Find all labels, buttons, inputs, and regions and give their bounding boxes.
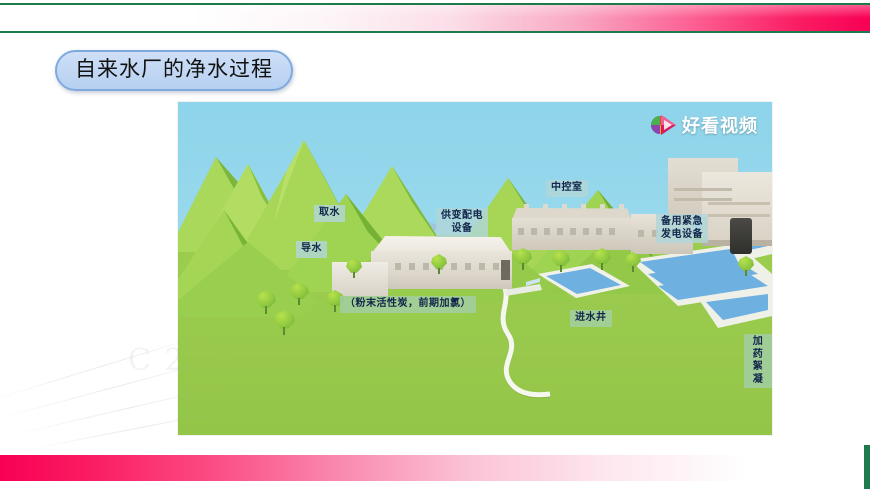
label-control-room: 中控室 (546, 180, 588, 197)
slide-canvas: 自来水厂的净水过程 (0, 0, 870, 489)
watermark-text: C 2 (128, 343, 186, 378)
haokan-logo-text: 好看视频 (682, 112, 758, 138)
tree (514, 248, 532, 270)
bottom-decorative-banner (0, 455, 870, 481)
water-plant-illustration: 取水 导水 供变配电 设备 中控室 备用紧急 发电设备 （粉末活性炭，前期加氯）… (178, 102, 772, 435)
label-carbon-chlorine: （粉末活性炭，前期加氯） (340, 296, 476, 313)
tree (593, 248, 611, 270)
tree (256, 290, 276, 314)
banner-glint (0, 5, 870, 18)
tree (346, 258, 362, 278)
tree (274, 310, 295, 335)
play-triangle-icon (649, 110, 679, 140)
label-backup-power: 备用紧急 发电设备 (656, 214, 708, 243)
label-power-supply: 供变配电 设备 (436, 208, 488, 237)
page-title: 自来水厂的净水过程 (55, 50, 293, 91)
label-conveyance: 导水 (296, 241, 327, 258)
control-room-building (512, 208, 631, 250)
tree (625, 252, 641, 272)
tree (290, 282, 309, 305)
label-intake: 取水 (314, 205, 345, 222)
haokan-video-watermark: 好看视频 (649, 110, 758, 140)
tree (431, 254, 447, 274)
tree (738, 256, 754, 276)
storage-tank (730, 218, 752, 254)
tree (552, 250, 570, 272)
label-dosing-floc: 加药 絮凝 (744, 334, 772, 388)
label-inlet-well: 进水井 (570, 310, 612, 327)
top-decorative-banner (0, 3, 870, 33)
bottom-right-rule (864, 445, 870, 489)
